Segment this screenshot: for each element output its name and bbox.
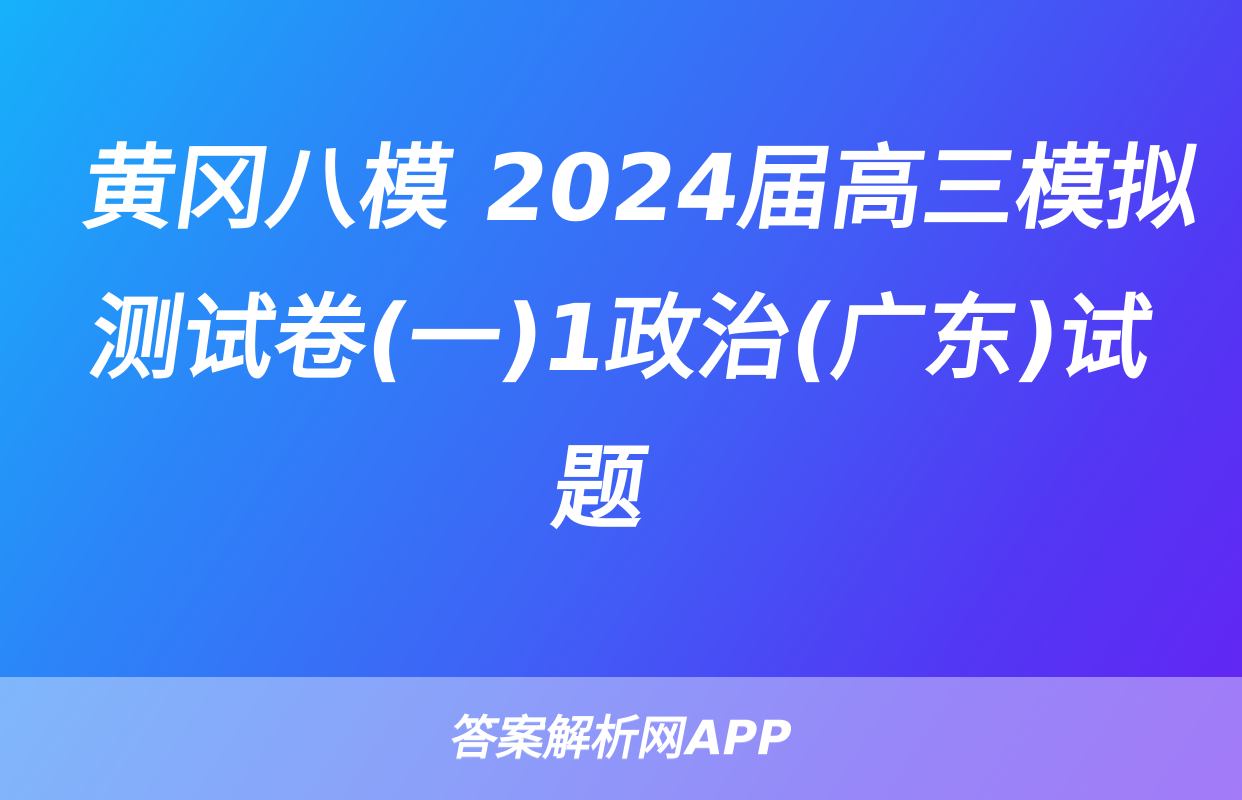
page-title: 黄冈八模 2024届高三模拟测试卷(一)1政治(广东)试题 [26, 114, 1215, 564]
watermark-band: 答案解析网APP [0, 677, 1242, 800]
watermark-label: 答案解析网APP [446, 715, 795, 762]
title-container: 黄冈八模 2024届高三模拟测试卷(一)1政治(广东)试题 [0, 0, 1242, 677]
poster-canvas: 黄冈八模 2024届高三模拟测试卷(一)1政治(广东)试题 答案解析网APP [0, 0, 1242, 800]
